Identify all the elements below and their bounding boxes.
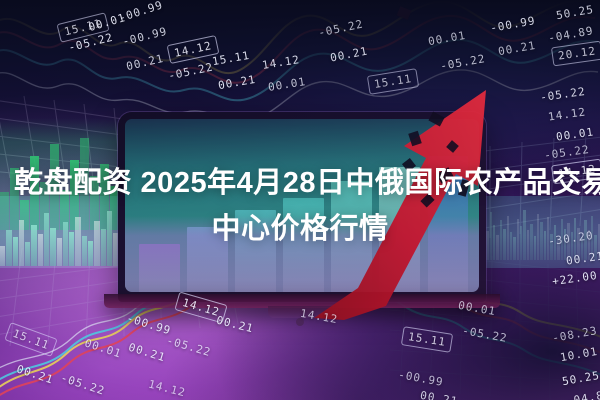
ticker-number: 00.21 (565, 249, 600, 267)
ticker-number: -00.99 (489, 14, 536, 35)
ticker-number: -05.22 (59, 371, 107, 398)
ticker-number: 14.12 (147, 378, 187, 400)
ticker-number: 50.25 (555, 3, 595, 22)
ticker-number: -05.22 (439, 52, 486, 73)
ticker-number-boxed: 15.11 (401, 326, 453, 353)
page-title: 乾盘配资 2025年4月28日中俄国际农产品交易 中心价格行情 (0, 160, 600, 252)
ticker-number-boxed: 15.11 (367, 68, 419, 95)
ticker-number: 00.01 (427, 29, 467, 48)
ticker-number: -05.22 (167, 60, 214, 82)
ticker-number-boxed: 15.11 (4, 322, 58, 357)
ticker-number: 50.25 (561, 369, 600, 388)
ticker-number: -05.22 (539, 85, 586, 104)
banner-image: 15.1100.01-05.22-00.9900.2114.12-05.2215… (0, 0, 600, 400)
ticker-number: 10.01 (559, 345, 599, 364)
ticker-number: -04.8 (565, 389, 600, 400)
ticker-number: +22.00 (551, 269, 598, 288)
ticker-number: 14.12 (547, 105, 587, 123)
ticker-number: -08.23 (551, 324, 598, 345)
ticker-number: -00.99 (117, 0, 165, 25)
ticker-number: 00.21 (329, 44, 369, 64)
headline-line-2: 中心价格行情 (14, 206, 586, 252)
ticker-number: 14.12 (299, 307, 339, 326)
ticker-number: 00.21 (419, 389, 459, 400)
ticker-number: 00.21 (217, 73, 257, 92)
ticker-number: -05.22 (165, 334, 213, 359)
ticker-number: 14.12 (261, 53, 301, 72)
headline-line-1: 乾盘配资 2025年4月28日中俄国际农产品交易 (14, 160, 586, 206)
ticker-number: 00.21 (15, 362, 55, 386)
ticker-number: 00.21 (127, 341, 167, 365)
ticker-number: -00.99 (397, 368, 444, 389)
ticker-number: -05.22 (461, 324, 508, 345)
ticker-number: 00.01 (555, 125, 595, 143)
ticker-number: -00.99 (125, 312, 173, 338)
ticker-number-boxed: 20.12 (551, 41, 600, 67)
ticker-number: 00.01 (83, 336, 123, 360)
ticker-number: 00.01 (457, 299, 497, 318)
ticker-number: -05.22 (317, 17, 364, 39)
ticker-number: 00.21 (215, 314, 255, 336)
ticker-number: -00.99 (121, 25, 169, 49)
ticker-number: 00.01 (267, 75, 307, 94)
ticker-number: 00.21 (497, 39, 537, 58)
ticker-number: 00.21 (125, 52, 165, 73)
